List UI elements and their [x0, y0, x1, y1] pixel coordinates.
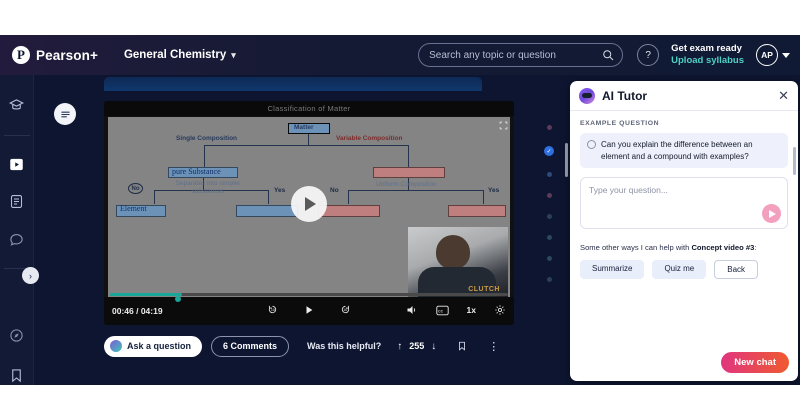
- play-icon[interactable]: [304, 304, 314, 315]
- diagram-label-no-right: No: [330, 187, 339, 194]
- vote-group: ↑ 255 ↓: [397, 341, 436, 352]
- top-header: P Pearson+ General Chemistry ▾ ? Get exa…: [0, 35, 800, 75]
- volume-icon[interactable]: [406, 304, 418, 316]
- chevron-down-icon: ▾: [231, 50, 236, 61]
- diagram-node-compound: [236, 205, 298, 217]
- video-progress-knob[interactable]: [175, 296, 181, 302]
- brand-name: Pearson+: [36, 48, 98, 63]
- main-stage: Classification of Matter Matter Single C…: [34, 75, 570, 385]
- sidebar-item-explore[interactable]: [7, 325, 27, 345]
- diagram-label-separates: Separates into simpler substances: [168, 180, 248, 196]
- instructor-pip: CLUTCH: [408, 227, 508, 297]
- search-icon[interactable]: [602, 49, 614, 61]
- other-ways-suffix: :: [754, 243, 756, 252]
- sidebar-item-videos[interactable]: [7, 155, 27, 173]
- video-slide-title: Classification of Matter: [104, 101, 514, 116]
- video-progress-fill: [110, 293, 182, 296]
- ai-tutor-scrollbar[interactable]: [793, 147, 796, 175]
- connector: [348, 190, 483, 191]
- diagram-label-uniform: Uniform Composition: [376, 181, 437, 188]
- chevron-down-icon: [782, 53, 790, 58]
- arrow-up-icon[interactable]: ↑: [397, 341, 402, 352]
- forward-10-icon[interactable]: 10: [340, 304, 351, 315]
- course-selector[interactable]: General Chemistry ▾: [124, 49, 236, 61]
- play-button-overlay[interactable]: [291, 186, 327, 222]
- question-bubble-icon: [587, 140, 596, 149]
- bookmark-icon[interactable]: [457, 340, 467, 352]
- ask-a-question-button[interactable]: Ask a question: [104, 336, 202, 357]
- example-question-chip[interactable]: Can you explain the difference between a…: [580, 133, 788, 168]
- pearson-app-window: P Pearson+ General Chemistry ▾ ? Get exa…: [0, 35, 800, 385]
- more-vertical-icon[interactable]: ⋮: [488, 340, 499, 353]
- video-right-controls: cc 1x: [406, 304, 506, 316]
- ai-tutor-panel: AI Tutor ✕ EXAMPLE QUESTION Can you expl…: [570, 81, 798, 381]
- help-button[interactable]: ?: [637, 44, 659, 66]
- quiz-me-button[interactable]: Quiz me: [652, 260, 706, 279]
- question-input-placeholder: Type your question...: [589, 185, 779, 195]
- diagram-node-mixture: [373, 167, 445, 178]
- ask-a-question-label: Ask a question: [127, 341, 191, 351]
- connector: [268, 190, 269, 204]
- progress-dot[interactable]: [547, 172, 552, 177]
- upload-syllabus-link[interactable]: Upload syllabus: [671, 55, 744, 67]
- account-menu[interactable]: AP: [756, 44, 790, 66]
- sidebar-item-saved[interactable]: [7, 365, 27, 385]
- video-player[interactable]: Classification of Matter Matter Single C…: [104, 101, 514, 325]
- lesson-progress-dots: ✓: [544, 125, 554, 282]
- ai-tutor-title: AI Tutor: [602, 89, 771, 103]
- video-action-bar: Ask a question 6 Comments Was this helpf…: [104, 333, 534, 359]
- other-ways-target: Concept video #3: [691, 243, 754, 252]
- rail-expand-button[interactable]: ›: [22, 267, 39, 284]
- connector: [308, 134, 309, 145]
- ai-bot-icon: [579, 88, 595, 104]
- progress-dot[interactable]: [547, 256, 552, 261]
- diagram-label-variable-composition: Variable Composition: [336, 135, 402, 142]
- play-icon: [305, 197, 316, 211]
- svg-text:10: 10: [271, 308, 275, 312]
- other-ways-line: Some other ways I can help with Concept …: [580, 243, 788, 252]
- progress-dot[interactable]: [547, 235, 552, 240]
- ai-tutor-header: AI Tutor ✕: [570, 81, 798, 111]
- settings-icon[interactable]: [494, 304, 506, 316]
- progress-dot[interactable]: [547, 125, 552, 130]
- connector: [154, 190, 155, 204]
- diagram-label-matter: Matter: [294, 124, 314, 131]
- instructor-head: [436, 235, 470, 269]
- send-button[interactable]: [762, 204, 781, 223]
- connector: [204, 145, 205, 167]
- exam-ready-block: Get exam ready Upload syllabus: [671, 43, 744, 67]
- progress-dot-current[interactable]: ✓: [544, 146, 554, 156]
- video-progress-track[interactable]: [110, 293, 508, 296]
- video-controls-bar: 00:46 / 04:19 10 10: [104, 297, 514, 325]
- search-input[interactable]: [429, 50, 612, 61]
- example-question-text: Can you explain the difference between a…: [601, 139, 781, 162]
- diagram-label-single-composition: Single Composition: [176, 135, 237, 142]
- captions-icon[interactable]: cc: [436, 305, 449, 316]
- connector: [204, 145, 409, 146]
- ai-tutor-body: EXAMPLE QUESTION Can you explain the dif…: [570, 111, 798, 381]
- diagram-annotation-element: Element: [120, 204, 147, 213]
- brand-logo[interactable]: P Pearson+: [12, 46, 98, 64]
- sidebar-item-chat[interactable]: [7, 231, 27, 249]
- helpful-label: Was this helpful?: [307, 341, 381, 351]
- other-ways-prefix: Some other ways I can help with: [580, 243, 691, 252]
- left-nav-rail: [0, 75, 34, 385]
- progress-dot[interactable]: [547, 193, 552, 198]
- diagram-node-homogeneous: [448, 205, 506, 217]
- back-button[interactable]: Back: [714, 260, 758, 279]
- arrow-down-icon[interactable]: ↓: [431, 341, 436, 352]
- comments-button[interactable]: 6 Comments: [211, 336, 289, 357]
- connector: [348, 190, 349, 204]
- search-box[interactable]: [418, 43, 623, 67]
- send-icon: [769, 210, 776, 218]
- rail-bottom-group: [7, 325, 27, 385]
- sidebar-item-courses[interactable]: [7, 97, 27, 115]
- connector: [483, 190, 484, 204]
- connector: [408, 145, 409, 167]
- pearson-logo-icon: P: [12, 46, 30, 64]
- diagram-label-yes-left: Yes: [274, 187, 285, 194]
- svg-text:10: 10: [343, 308, 347, 312]
- ai-bot-icon: [110, 340, 122, 352]
- course-name: General Chemistry: [124, 49, 226, 61]
- diagram-label-no-left: No: [128, 183, 143, 194]
- diagram-node-heterogeneous: [318, 205, 380, 217]
- progress-dot[interactable]: [547, 277, 552, 282]
- question-input-box[interactable]: Type your question...: [580, 177, 788, 229]
- lesson-menu-button[interactable]: [54, 103, 76, 125]
- progress-dot[interactable]: [547, 214, 552, 219]
- summarize-button[interactable]: Summarize: [580, 260, 644, 279]
- clutch-watermark: CLUTCH: [468, 286, 500, 293]
- suggestion-chips: Summarize Quiz me Back: [580, 260, 788, 279]
- rail-divider: [4, 135, 30, 136]
- avatar: AP: [756, 44, 778, 66]
- sidebar-item-practice[interactable]: [7, 193, 27, 211]
- close-icon[interactable]: ✕: [778, 89, 789, 102]
- svg-text:cc: cc: [438, 309, 443, 314]
- example-question-label: EXAMPLE QUESTION: [580, 120, 788, 127]
- diagram-annotation-pure-substance: pure Substance: [172, 167, 221, 176]
- playback-speed-button[interactable]: 1x: [467, 305, 476, 315]
- fullscreen-icon[interactable]: [499, 121, 508, 130]
- stage-scrollbar[interactable]: [565, 143, 568, 177]
- new-chat-button[interactable]: New chat: [721, 352, 789, 373]
- rewind-10-icon[interactable]: 10: [267, 304, 278, 315]
- lesson-banner: [104, 77, 482, 91]
- vote-count: 255: [409, 341, 424, 351]
- exam-ready-title: Get exam ready: [671, 43, 744, 55]
- diagram-label-yes-right: Yes: [488, 187, 499, 194]
